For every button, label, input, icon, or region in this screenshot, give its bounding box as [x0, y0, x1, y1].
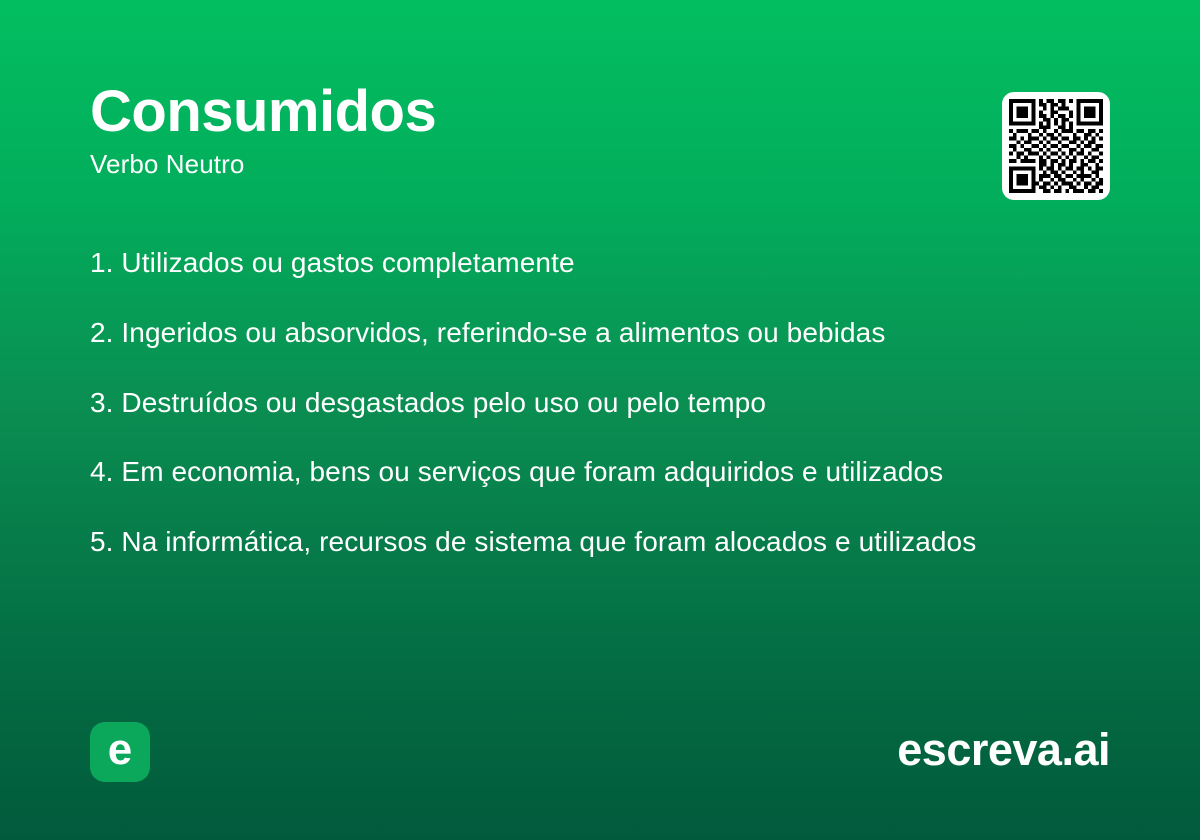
definition-item: 5. Na informática, recursos de sistema q…: [90, 524, 1100, 560]
definition-item: 4. Em economia, bens ou serviços que for…: [90, 454, 1100, 490]
definition-item: 2. Ingeridos ou absorvidos, referindo-se…: [90, 315, 1100, 351]
word-class-label: Verbo Neutro: [90, 150, 1110, 179]
page-title: Consumidos: [90, 82, 1110, 142]
brand-wordmark: escreva.ai: [897, 725, 1110, 775]
definition-item: 3. Destruídos ou desgastados pelo uso ou…: [90, 385, 1100, 421]
card-footer: e escreva.ai: [90, 722, 1110, 782]
qr-code-icon: [1009, 99, 1103, 193]
qr-code[interactable]: [1002, 92, 1110, 200]
logo-letter: e: [108, 728, 132, 772]
escreva-logo-icon[interactable]: e: [90, 722, 150, 782]
definition-item: 1. Utilizados ou gastos completamente: [90, 245, 1100, 281]
definitions-list: 1. Utilizados ou gastos completamente2. …: [90, 245, 1100, 560]
definition-card: Consumidos Verbo Neutro 1. Utilizados ou…: [0, 0, 1200, 840]
card-header: Consumidos Verbo Neutro: [90, 82, 1110, 179]
